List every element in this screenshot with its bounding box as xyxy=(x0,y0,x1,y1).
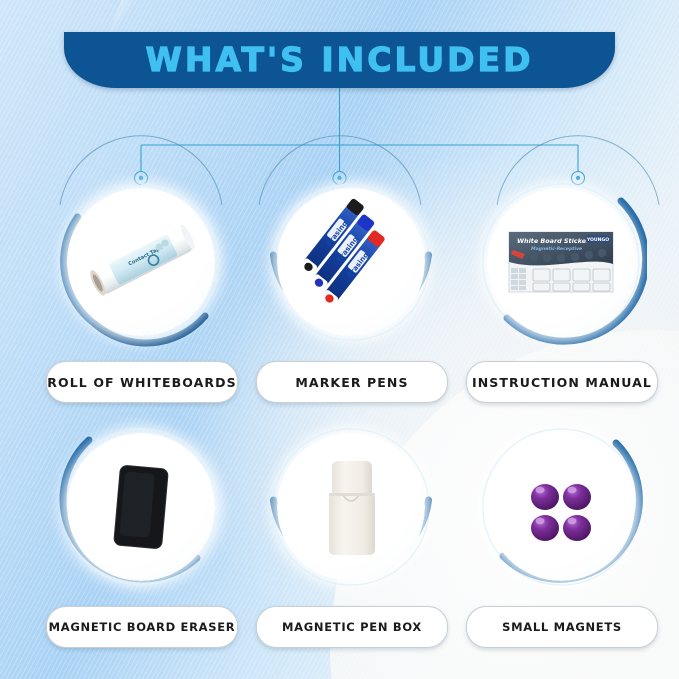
pen-box-icon xyxy=(277,433,425,581)
item-magnetic-board-eraser[interactable]: MAGNETIC BOARD ERASER xyxy=(46,421,236,648)
item-label-pill: MAGNETIC PEN BOX xyxy=(256,606,448,648)
whiteboard-roll-icon: Contact Tape xyxy=(67,188,215,336)
marker-pens-icon: Erasing Erasing xyxy=(277,188,425,336)
svg-text:White Board Sticker: White Board Sticker xyxy=(517,237,590,245)
product-circle xyxy=(265,421,437,593)
board-eraser-icon xyxy=(67,433,215,581)
item-magnetic-pen-box[interactable]: MAGNETIC PEN BOX xyxy=(256,421,446,648)
header-banner: WHAT'S INCLUDED xyxy=(64,32,615,88)
item-label-pill: MAGNETIC BOARD ERASER xyxy=(46,606,238,648)
item-label-pill: ROLL OF WHITEBOARDS xyxy=(46,361,238,403)
item-roll-of-whiteboards[interactable]: Contact Tape ROLL OF WHITEBOARDS xyxy=(46,176,236,403)
instruction-manual-icon: White Board Sticker Magnetic-Receptive Y… xyxy=(487,188,635,336)
item-label-pill: MARKER PENS xyxy=(256,361,448,403)
item-label: MARKER PENS xyxy=(295,375,408,390)
item-label-pill: SMALL MAGNETS xyxy=(466,606,658,648)
product-circle: White Board Sticker Magnetic-Receptive Y… xyxy=(475,176,647,348)
item-label: ROLL OF WHITEBOARDS xyxy=(47,375,236,390)
product-circle xyxy=(475,421,647,593)
product-circle: Contact Tape xyxy=(55,176,227,348)
item-instruction-manual[interactable]: White Board Sticker Magnetic-Receptive Y… xyxy=(466,176,656,403)
svg-text:Magnetic-Receptive: Magnetic-Receptive xyxy=(531,246,582,252)
small-magnets-icon xyxy=(487,433,635,581)
page-title: WHAT'S INCLUDED xyxy=(64,36,615,84)
svg-text:YOUNGO: YOUNGO xyxy=(586,237,609,243)
item-label: MAGNETIC BOARD ERASER xyxy=(49,620,236,634)
item-marker-pens[interactable]: Erasing Erasing xyxy=(256,176,446,403)
item-small-magnets[interactable]: SMALL MAGNETS xyxy=(466,421,656,648)
item-label: SMALL MAGNETS xyxy=(502,620,622,634)
product-circle xyxy=(55,421,227,593)
item-label: INSTRUCTION MANUAL xyxy=(472,375,652,390)
item-label-pill: INSTRUCTION MANUAL xyxy=(466,361,658,403)
item-label: MAGNETIC PEN BOX xyxy=(282,620,422,634)
infographic-canvas: Contact Tape ROLL OF WHITEBOARDS xyxy=(0,0,679,679)
product-circle: Erasing Erasing xyxy=(265,176,437,348)
